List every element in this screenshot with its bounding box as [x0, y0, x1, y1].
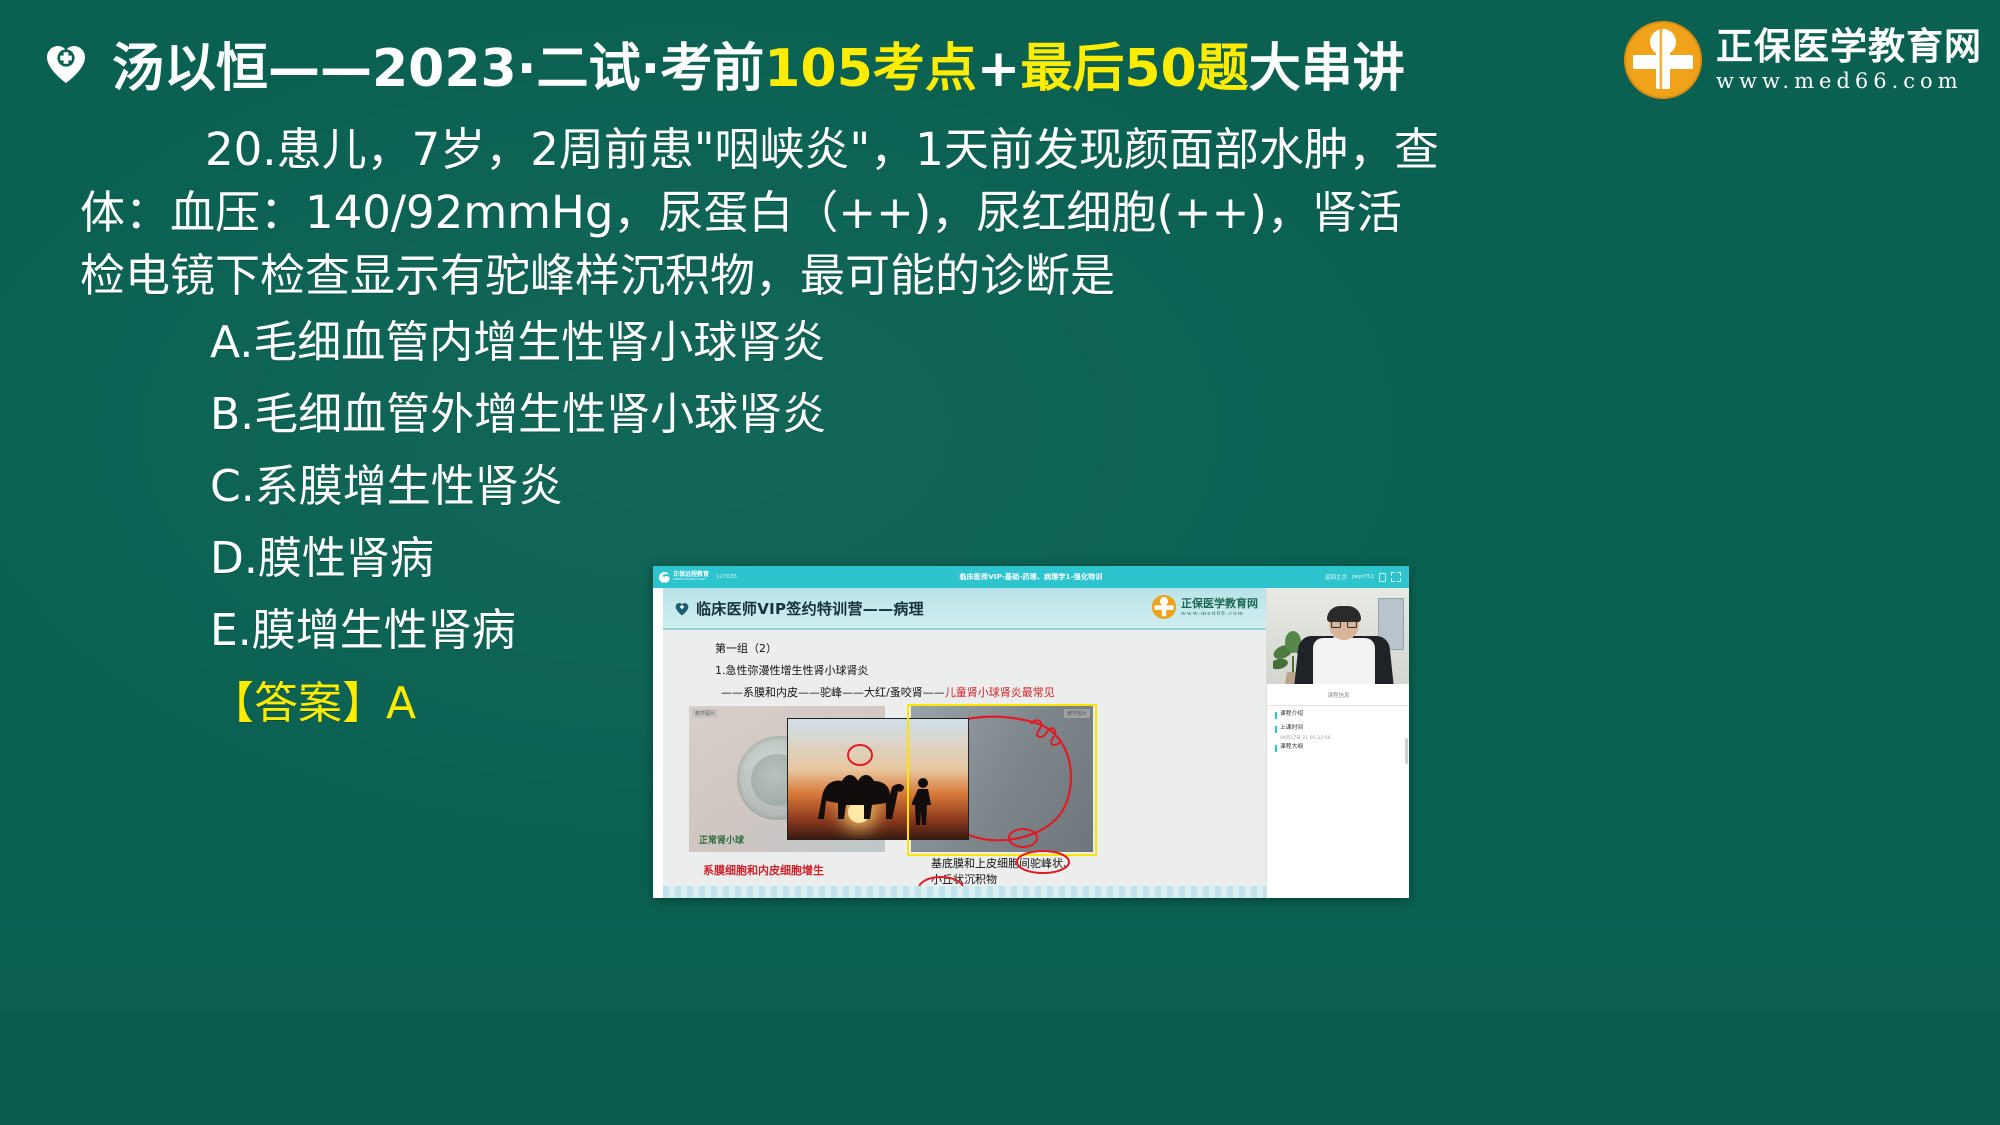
list-item[interactable]: 课程介绍 [1267, 708, 1409, 722]
camel-silhouette-icon [812, 761, 908, 823]
item-accent-bar [1275, 712, 1277, 719]
page-header: 汤以恒——2023·二试·考前105考点+最后50题大串讲 正保医学教育网 ww… [0, 0, 2000, 118]
heart-plus-icon [45, 44, 87, 84]
item-accent-bar [1275, 745, 1277, 752]
slide-brand-logo: 正保医学教育网 www.med66.com [1151, 594, 1258, 620]
slide-item-1-detail: ——系膜和内皮——驼峰——大红/蚤咬肾——儿童肾小球肾炎最常见 [721, 684, 1055, 700]
heart-plus-icon [675, 601, 689, 615]
logo-name: 正保医学教育网 [1716, 28, 1982, 65]
option-a: A.毛细血管内增生性肾小球肾炎 [0, 307, 1560, 379]
player-home-link[interactable]: 返回主页 [1325, 573, 1347, 581]
title-segment-3: + [977, 39, 1021, 99]
person-silhouette-icon [912, 777, 934, 825]
player-side-panel: 课程信息 课程介绍 上课时间 04月17日 21:05-22:56 课程大纲 [1266, 588, 1409, 898]
slide-item-1: 1.急性弥漫性增生性肾小球肾炎 [715, 662, 869, 678]
player-course-title: 临床医师VIP-基础-药理、病理学1-强化特训 [653, 566, 1409, 588]
picture-in-picture-icon[interactable] [1379, 573, 1386, 582]
logo-url: www.med66.com [1716, 71, 1982, 92]
normal-glomerulus-caption: 正常肾小球 [699, 833, 744, 846]
fullscreen-icon[interactable] [1391, 572, 1401, 582]
medical-cross-circle-logo-icon [1622, 19, 1704, 101]
question-stem-line-2: 体：血压：140/92mmHg，尿蛋白（++)，尿红细胞(++)，肾活 [0, 181, 1560, 244]
player-topbar-actions: 返回主页 jwyt751 [1325, 566, 1401, 588]
title-segment-4-highlight: 最后50题 [1020, 39, 1248, 99]
side-panel-item-label: 课程大纲 [1280, 744, 1303, 752]
page-title: 汤以恒——2023·二试·考前105考点+最后50题大串讲 [112, 26, 1405, 101]
question-stem-line-1: 20.患儿，7岁，2周前患"咽峡炎"，1天前发现颜面部水肿，查 [0, 118, 1560, 181]
list-item[interactable]: 课程大纲 [1267, 741, 1409, 755]
player-slide-stage: 临床医师VIP签约特训营——病理 正保医学教育网 www.med66.com [663, 588, 1266, 898]
embedded-course-player-screenshot: 正保远程教育 www.chinaacc.com 127635 临床医师VIP-基… [653, 566, 1409, 898]
slide-logo-name: 正保医学教育网 [1181, 598, 1258, 609]
item-accent-bar [1275, 726, 1277, 733]
title-segment-5: 大串讲 [1249, 39, 1405, 99]
slide-content: 第一组（2） 1.急性弥漫性增生性肾小球肾炎 ——系膜和内皮——驼峰——大红/蚤… [663, 630, 1266, 898]
side-panel-list: 课程介绍 上课时间 04月17日 21:05-22:56 课程大纲 [1267, 708, 1409, 755]
brand-logo: 正保医学教育网 www.med66.com [1622, 14, 1982, 106]
camel-sunset-photo [787, 718, 969, 840]
title-segment-1: 汤以恒——2023·二试·考前 [112, 39, 764, 99]
slide-detail-black: ——系膜和内皮——驼峰——大红/蚤咬肾—— [721, 686, 945, 699]
slide-title: 临床医师VIP签约特训营——病理 [696, 598, 924, 619]
bottom-shade [0, 895, 2000, 1125]
option-c: C.系膜增生性肾炎 [0, 451, 1560, 523]
title-segment-2-highlight: 105考点 [764, 39, 977, 99]
option-b: B.毛细血管外增生性肾小球肾炎 [0, 379, 1560, 451]
slide-caption-right: 基底膜和上皮细胞间驼峰状、 小丘状沉积物 [931, 856, 1074, 888]
question-stem-line-3: 检电镜下检查显示有驼峰样沉积物，最可能的诊断是 [0, 244, 1560, 307]
slide-group-label: 第一组（2） [715, 640, 777, 656]
side-panel-tab[interactable]: 课程信息 [1267, 684, 1409, 706]
image-watermark-right: 教学图片 [1064, 709, 1090, 718]
image-watermark-left: 教学图片 [692, 709, 718, 718]
slide-image-row: 教学图片 正常肾小球 教学图片 [689, 706, 1093, 852]
instructor-webcam-feed [1267, 588, 1409, 684]
side-panel-item-label: 上课时间 [1280, 725, 1303, 733]
slide-caption-left: 系膜细胞和内皮细胞增生 [703, 862, 824, 878]
instructor-shirt [1313, 638, 1375, 684]
slide-detail-red: 儿童肾小球肾炎最常见 [945, 686, 1055, 699]
slide-header: 临床医师VIP签约特训营——病理 正保医学教育网 www.med66.com [663, 588, 1266, 630]
instructor-hair [1327, 606, 1361, 622]
slide-logo-url: www.med66.com [1181, 611, 1258, 617]
side-panel-item-label: 课程介绍 [1280, 711, 1303, 719]
medical-cross-circle-logo-icon [1151, 594, 1177, 620]
slide-bottom-strip [663, 886, 1266, 898]
list-item[interactable]: 上课时间 04月17日 21:05-22:56 [1267, 722, 1409, 741]
side-panel-scrollbar[interactable] [1405, 738, 1408, 764]
slide-caption-right-line-1: 基底膜和上皮细胞间驼峰状、 [931, 856, 1074, 872]
glasses-icon [1331, 621, 1357, 628]
player-user-id: jwyt751 [1352, 574, 1374, 580]
